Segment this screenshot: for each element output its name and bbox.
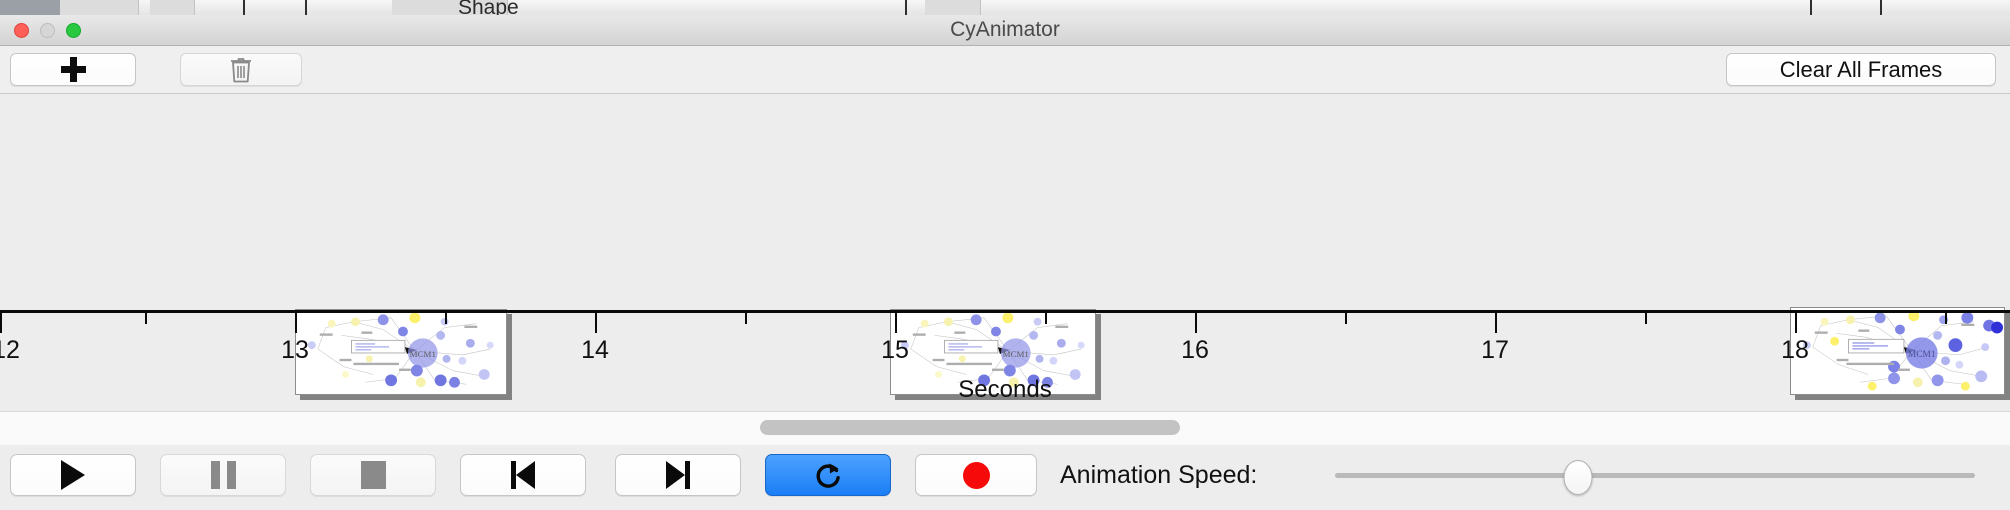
axis-tick-minor bbox=[145, 313, 147, 324]
svg-text:MCM1: MCM1 bbox=[410, 349, 436, 359]
trash-icon bbox=[229, 56, 253, 83]
clear-all-frames-button[interactable]: Clear All Frames bbox=[1726, 53, 1996, 86]
play-button[interactable] bbox=[10, 454, 136, 496]
axis-tick-label: 18 bbox=[1781, 336, 1809, 365]
plus-icon bbox=[61, 57, 86, 82]
svg-text:MCM1: MCM1 bbox=[1908, 350, 1936, 360]
bg-tick bbox=[1880, 0, 1882, 15]
axis-tick-minor bbox=[445, 313, 447, 324]
axis-tick-label: 15 bbox=[881, 336, 909, 365]
frame-toolbar: Clear All Frames bbox=[0, 46, 2010, 94]
axis-tick-major bbox=[0, 313, 2, 333]
skip-next-icon bbox=[666, 461, 690, 489]
axis-tick-label: 12 bbox=[0, 336, 20, 365]
axis-tick-label: 14 bbox=[581, 336, 609, 365]
axis-tick-label: 16 bbox=[1181, 336, 1209, 365]
bg-chip bbox=[60, 0, 139, 15]
play-icon bbox=[61, 460, 85, 490]
axis-tick-minor bbox=[1045, 313, 1047, 324]
pause-icon bbox=[211, 461, 236, 489]
axis-tick-label: 17 bbox=[1481, 336, 1509, 365]
window-titlebar: CyAnimator bbox=[0, 15, 2010, 46]
axis-tick-minor bbox=[745, 313, 747, 324]
background-window-strip: Shape bbox=[0, 0, 2010, 16]
delete-frame-button[interactable] bbox=[180, 53, 302, 86]
axis-tick-major bbox=[295, 313, 297, 333]
bg-chip bbox=[925, 0, 981, 15]
axis-title: Seconds bbox=[0, 376, 2010, 404]
scrollbar-thumb[interactable] bbox=[760, 420, 1180, 435]
add-frame-button[interactable] bbox=[10, 53, 136, 86]
last-frame-button[interactable] bbox=[615, 454, 741, 496]
axis-tick-minor bbox=[1945, 313, 1947, 324]
skip-previous-icon bbox=[511, 461, 535, 489]
bg-chip bbox=[150, 0, 195, 15]
bg-tick bbox=[905, 0, 907, 15]
timeline-scrollbar[interactable] bbox=[0, 411, 2010, 446]
stop-button[interactable] bbox=[310, 454, 436, 496]
bg-chip bbox=[0, 0, 61, 15]
first-frame-button[interactable] bbox=[460, 454, 586, 496]
animation-speed-label: Animation Speed: bbox=[1060, 454, 1257, 496]
axis-tick-major bbox=[1195, 313, 1197, 333]
bg-tick bbox=[243, 0, 245, 15]
axis-tick-minor bbox=[1345, 313, 1347, 324]
axis-tick-major bbox=[1495, 313, 1497, 333]
loop-icon bbox=[813, 460, 843, 490]
bg-tick bbox=[305, 0, 307, 15]
background-window-label: Shape bbox=[458, 0, 519, 16]
window-title: CyAnimator bbox=[0, 15, 2010, 45]
axis-tick-label: 13 bbox=[281, 336, 309, 365]
axis-tick-minor bbox=[1645, 313, 1647, 324]
record-button[interactable] bbox=[915, 454, 1037, 496]
timeline-panel[interactable]: MCM1 bbox=[0, 94, 2010, 410]
record-icon bbox=[963, 462, 990, 489]
svg-text:MCM1: MCM1 bbox=[1003, 349, 1029, 359]
transport-bar: Animation Speed: bbox=[0, 445, 2010, 510]
animation-speed-slider[interactable] bbox=[1335, 454, 1975, 496]
pause-button[interactable] bbox=[160, 454, 286, 496]
loop-button[interactable] bbox=[765, 454, 891, 496]
axis-tick-major bbox=[1795, 313, 1797, 333]
axis-tick-major bbox=[595, 313, 597, 333]
bg-tick bbox=[1810, 0, 1812, 15]
axis-tick-major bbox=[895, 313, 897, 333]
slider-knob[interactable] bbox=[1564, 460, 1593, 495]
slider-track bbox=[1335, 473, 1975, 478]
timeline-axis bbox=[0, 310, 2010, 313]
stop-icon bbox=[361, 461, 386, 489]
